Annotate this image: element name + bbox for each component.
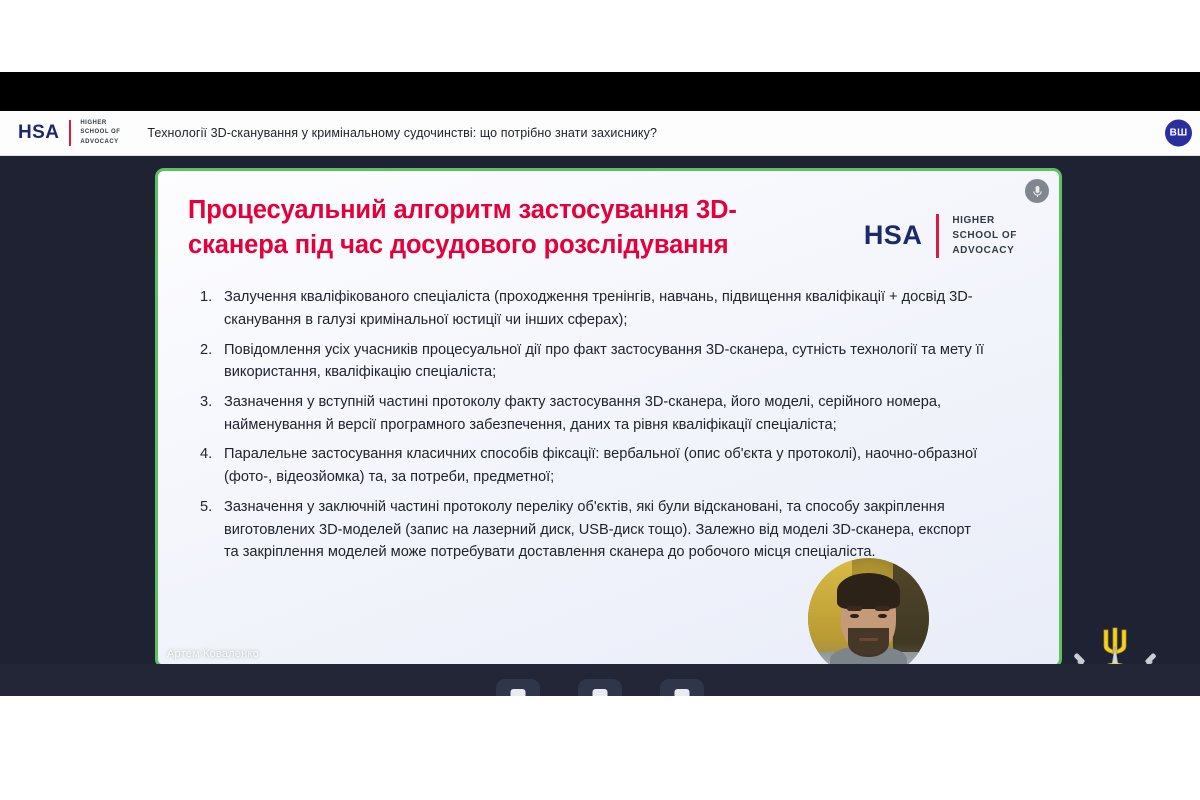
slide-hsa-tagline-line1: HIGHER (952, 215, 995, 226)
list-item: Зазначення у вступній частині протоколу … (188, 391, 984, 436)
presenter-name-label: Артем Коваленко (167, 648, 259, 660)
hsa-wordmark: HSA (18, 123, 59, 142)
screen-share-icon (675, 689, 690, 696)
hsa-tagline: HIGHER SCHOOL OF ADVOCACY (80, 119, 120, 147)
app-header-bar: HSA HIGHER SCHOOL OF ADVOCACY Технології… (0, 111, 1200, 156)
letterbox-top (0, 0, 1200, 72)
hsa-tagline-line2: SCHOOL OF (80, 129, 120, 135)
video-person-brow-right (875, 606, 891, 611)
hsa-logo-header[interactable]: HSA HIGHER SCHOOL OF ADVOCACY (18, 119, 120, 147)
microphone-toggle-button[interactable] (496, 679, 540, 696)
hsa-tagline-line1: HIGHER (80, 120, 106, 126)
slide-title: Процесуальний алгоритм застосування 3D-с… (188, 193, 828, 262)
video-person-mouth (859, 638, 878, 642)
list-item: Паралельне застосування класичних способ… (188, 443, 984, 488)
camera-toggle-button[interactable] (578, 679, 622, 696)
letterbox-black-band (0, 72, 1200, 111)
camera-icon (593, 689, 608, 696)
share-screen-button[interactable] (660, 679, 704, 696)
microphone-icon (511, 689, 526, 696)
session-title: Технології 3D-сканування у кримінальному… (147, 126, 657, 140)
video-person-brow-left (847, 606, 863, 611)
slide-hsa-tagline-line2: SCHOOL OF (952, 230, 1017, 241)
logo-divider (69, 120, 71, 146)
video-person-hair (837, 573, 900, 609)
video-person-beard (848, 628, 889, 657)
slide-logo-divider (936, 214, 939, 258)
letterbox-bottom (0, 696, 1200, 800)
slide-hsa-tagline-line3: ADVOCACY (952, 245, 1014, 256)
list-item: Повідомлення усіх учасників процесуально… (188, 339, 984, 384)
meeting-controls-bar (0, 664, 1200, 696)
slide-hsa-logo: HSA HIGHER SCHOOL OF ADVOCACY (864, 213, 1017, 258)
list-item: Зазначення у заключній частині протоколу… (188, 496, 984, 564)
meeting-stage: Процесуальний алгоритм застосування 3D-с… (0, 156, 1200, 696)
slide-numbered-list: Залучення кваліфікованого спеціаліста (п… (188, 286, 1031, 564)
slide-hsa-tagline: HIGHER SCHOOL OF ADVOCACY (952, 213, 1017, 258)
participant-video-tile[interactable] (808, 558, 929, 679)
organization-badge[interactable]: ВШ (1165, 120, 1192, 147)
microphone-icon[interactable] (1025, 179, 1049, 203)
slide-hsa-wordmark: HSA (864, 222, 923, 249)
screenshot-root: HSA HIGHER SCHOOL OF ADVOCACY Технології… (0, 0, 1200, 800)
list-item: Залучення кваліфікованого спеціаліста (п… (188, 286, 984, 331)
hsa-tagline-line3: ADVOCACY (80, 139, 118, 145)
